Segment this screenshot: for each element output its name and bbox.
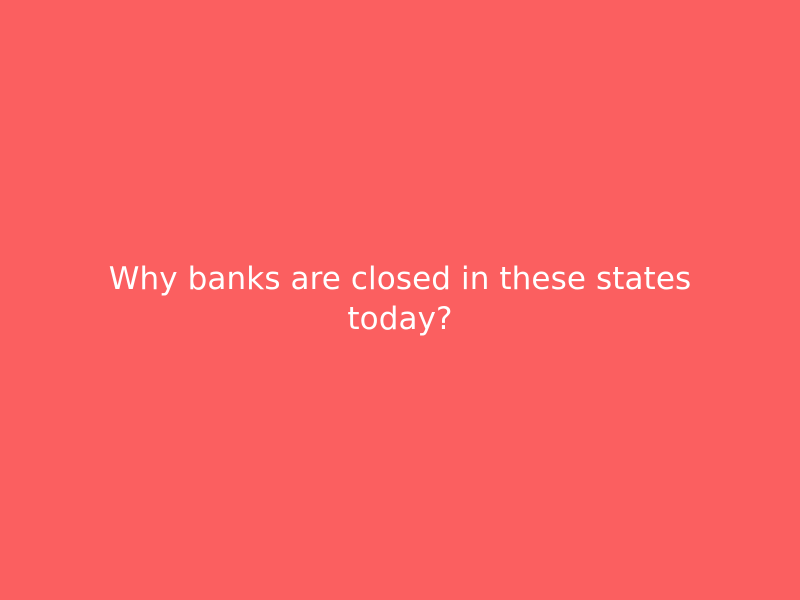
headline-text: Why banks are closed in these states tod…: [50, 260, 750, 339]
placeholder-card: Why banks are closed in these states tod…: [0, 0, 800, 600]
